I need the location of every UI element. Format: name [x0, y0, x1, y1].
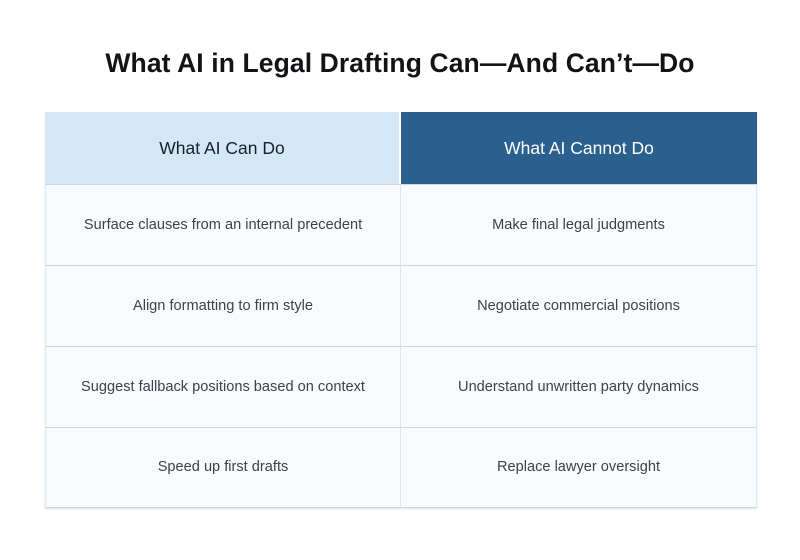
- column-header-can: What AI Can Do: [45, 112, 401, 184]
- cell-cannot: Negotiate commercial positions: [401, 265, 757, 346]
- column-header-cannot: What AI Cannot Do: [401, 112, 757, 184]
- page-title: What AI in Legal Drafting Can—And Can’t—…: [0, 48, 800, 80]
- table-body: Surface clauses from an internal precede…: [45, 184, 757, 508]
- cell-cannot: Replace lawyer oversight: [401, 427, 757, 508]
- cell-can: Suggest fallback positions based on cont…: [45, 346, 401, 427]
- table-row: Surface clauses from an internal precede…: [45, 184, 757, 265]
- table-row: Speed up first drafts Replace lawyer ove…: [45, 427, 757, 508]
- cell-can: Surface clauses from an internal precede…: [45, 184, 401, 265]
- table-header-row: What AI Can Do What AI Cannot Do: [45, 112, 757, 184]
- cell-can: Align formatting to firm style: [45, 265, 401, 346]
- slide-canvas: What AI in Legal Drafting Can—And Can’t—…: [0, 0, 800, 560]
- table-row: Align formatting to firm style Negotiate…: [45, 265, 757, 346]
- table-header: What AI Can Do What AI Cannot Do: [45, 112, 757, 184]
- table-row: Suggest fallback positions based on cont…: [45, 346, 757, 427]
- cell-cannot: Make final legal judgments: [401, 184, 757, 265]
- cell-can: Speed up first drafts: [45, 427, 401, 508]
- cell-cannot: Understand unwritten party dynamics: [401, 346, 757, 427]
- ai-capability-comparison-table: What AI Can Do What AI Cannot Do Surface…: [45, 112, 757, 508]
